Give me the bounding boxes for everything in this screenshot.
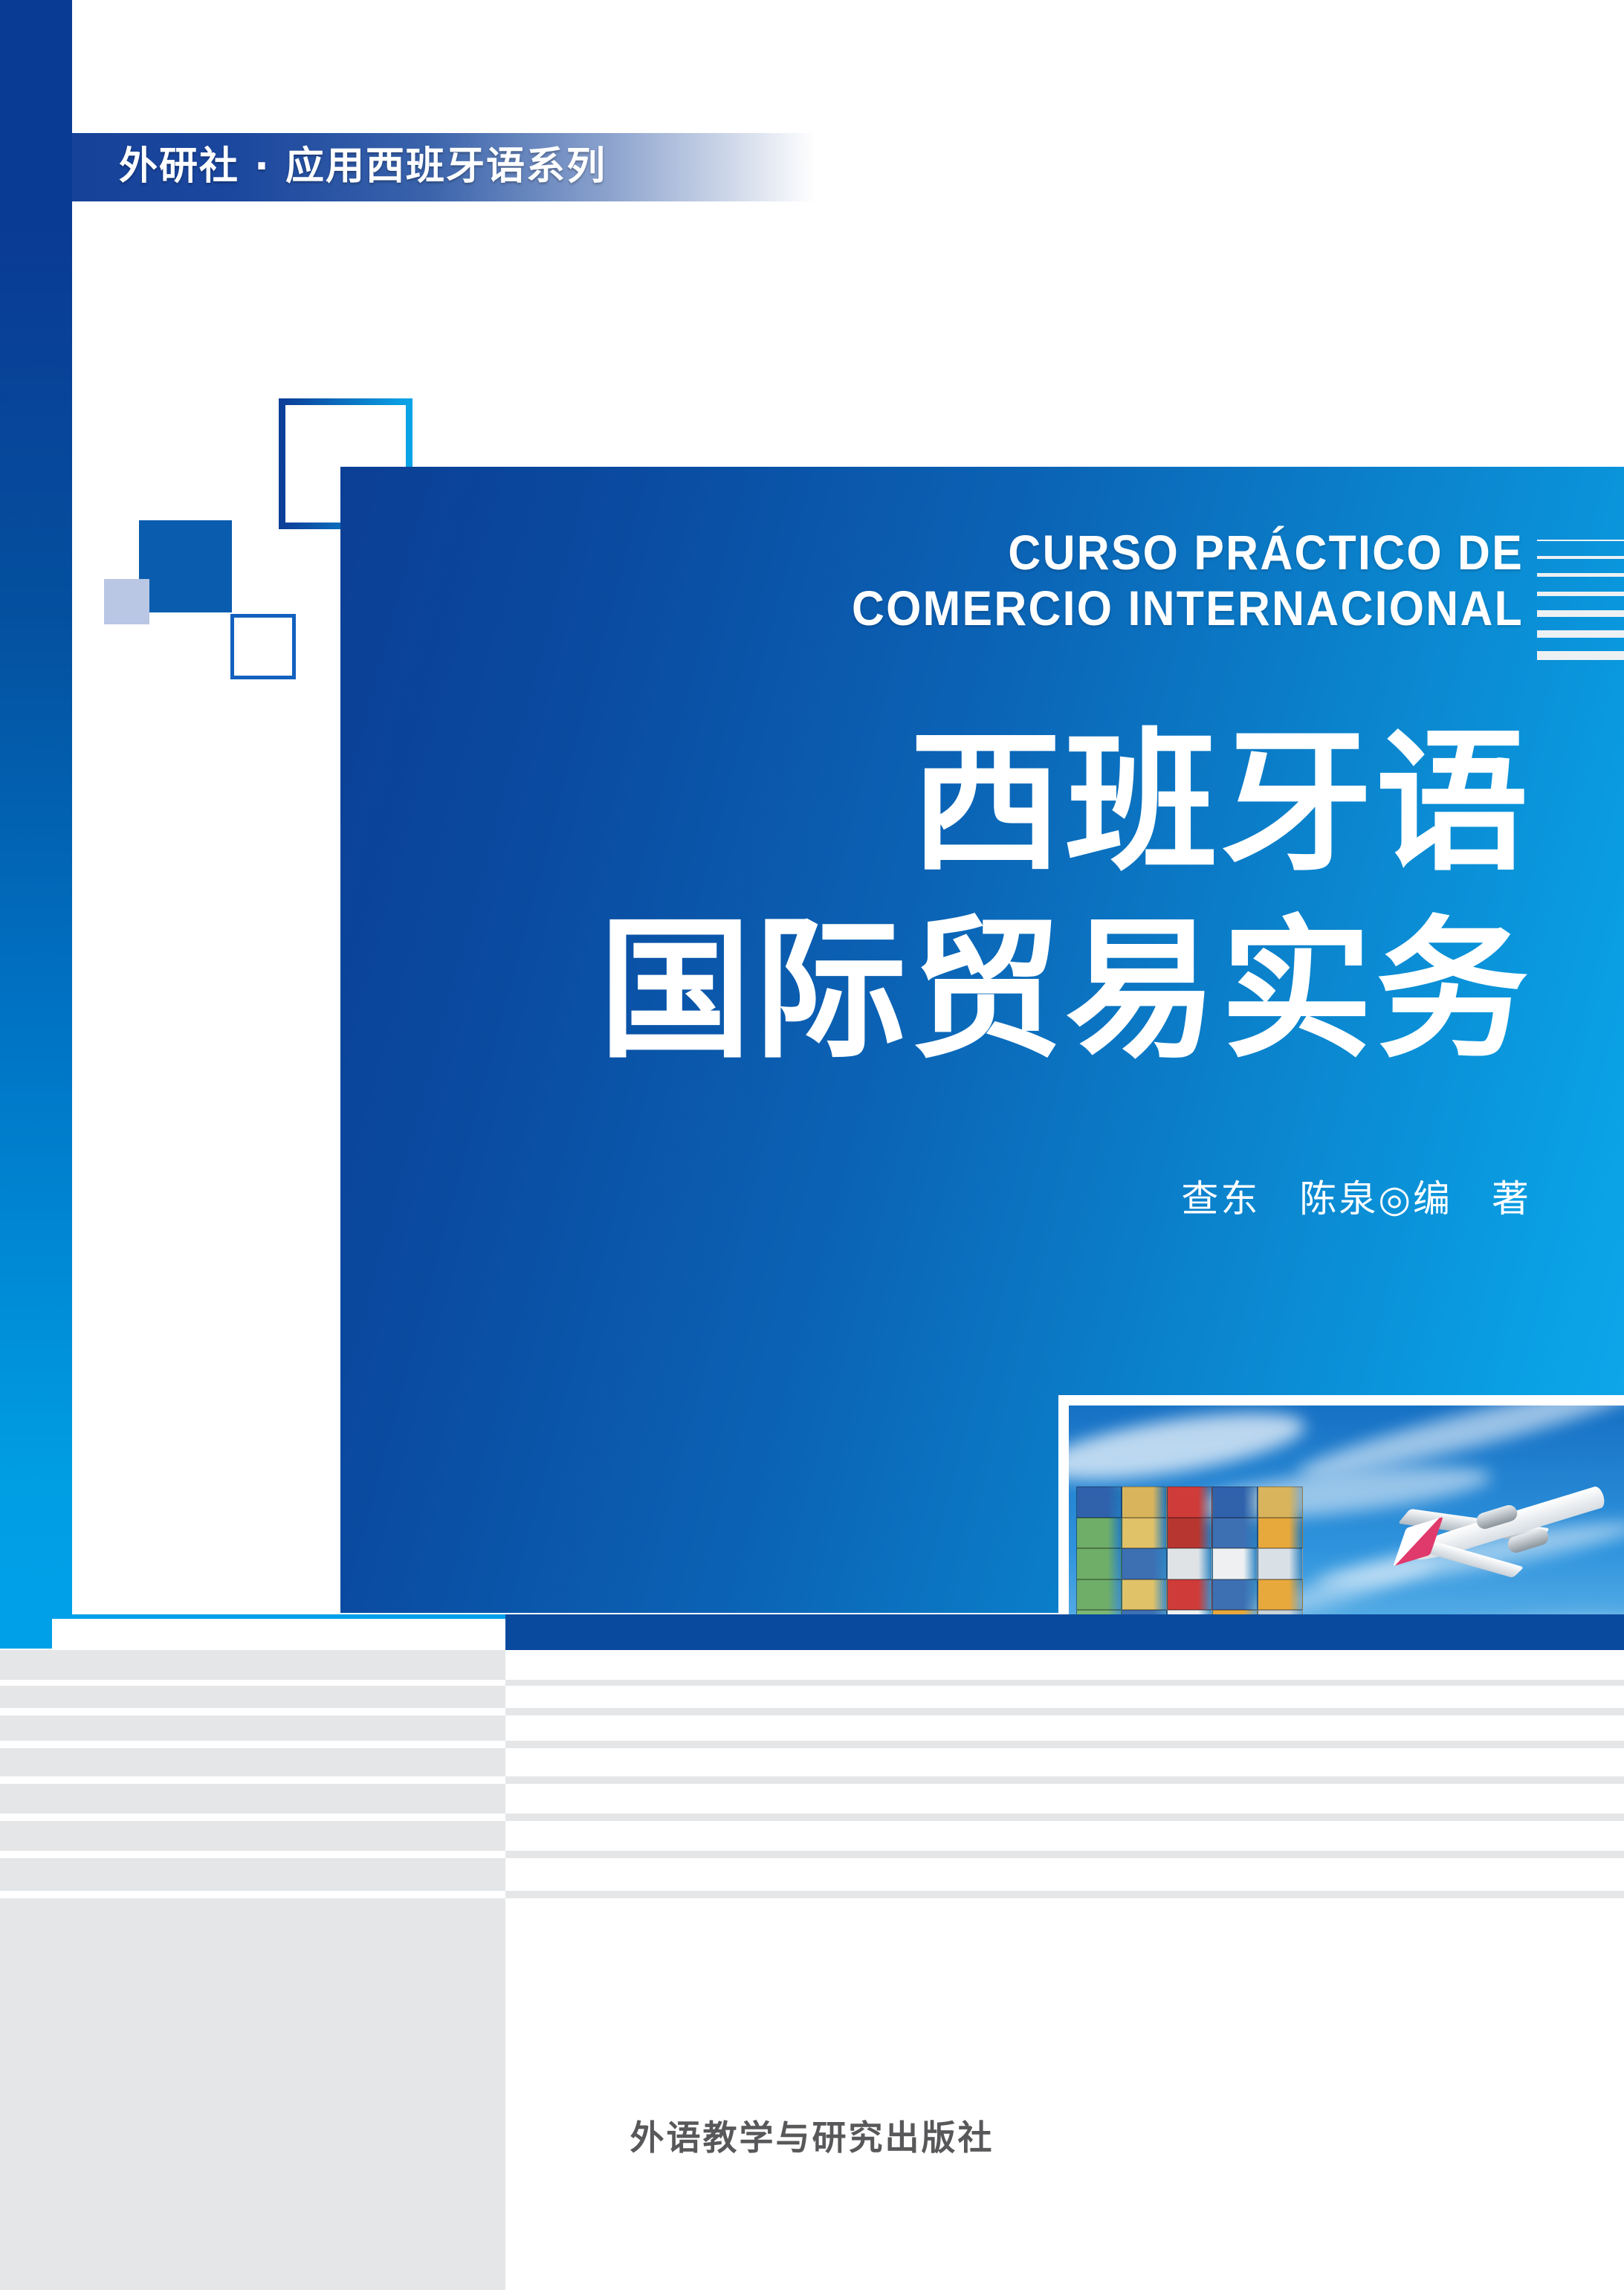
stripe-band	[0, 1619, 1624, 1650]
publisher-name: 外语教学与研究出版社	[0, 2111, 1624, 2160]
edge-line	[1537, 573, 1624, 577]
stripe-right	[505, 1708, 1624, 1715]
stripe-left	[0, 1784, 505, 1814]
stripe-right	[505, 1650, 1624, 1669]
stripe-band	[0, 1715, 1624, 1741]
shipping-container	[1076, 1579, 1122, 1611]
stripe-right	[505, 1821, 1624, 1851]
stripe-right	[505, 1784, 1624, 1814]
shipping-container	[1212, 1548, 1258, 1579]
stripe-left	[0, 1619, 505, 1650]
stripe-left	[0, 1891, 505, 1898]
stripe-band	[0, 1741, 1624, 1748]
bottom-stripe-zone	[0, 1614, 1624, 2290]
stripe-band	[0, 1898, 1624, 2290]
edge-lines-decor	[1537, 540, 1624, 659]
stripe-band	[0, 1669, 1624, 1680]
edge-line	[1537, 540, 1624, 541]
shipping-container	[1167, 1487, 1212, 1518]
stripe-band	[0, 1858, 1624, 1891]
chinese-title-line2: 国际贸易实务	[372, 897, 1531, 1084]
stripe-left	[0, 1858, 505, 1891]
spanish-title-line1: CURSO PRÁCTICO DE	[416, 525, 1524, 580]
stripe-left	[0, 1741, 505, 1748]
chinese-title: 西班牙语 国际贸易实务	[372, 710, 1531, 1084]
stripe-right	[505, 1814, 1624, 1821]
stripe-right	[505, 1669, 1624, 1680]
stripe-left	[0, 1715, 505, 1741]
shipping-container	[1212, 1579, 1258, 1611]
stripe-band	[0, 1650, 1624, 1669]
stripe-left	[0, 1821, 505, 1851]
stripe-left	[0, 1669, 505, 1680]
stripe-left	[0, 1898, 505, 2290]
shipping-container	[1212, 1518, 1258, 1549]
shipping-container	[1258, 1548, 1303, 1579]
stripe-right	[505, 1741, 1624, 1748]
stripe-right	[505, 1715, 1624, 1741]
shipping-container	[1122, 1548, 1167, 1579]
container-row	[1076, 1548, 1303, 1579]
stripe-left	[0, 1680, 505, 1686]
outline-square-small-icon	[230, 614, 296, 679]
shipping-container	[1122, 1579, 1167, 1611]
shipping-container	[1167, 1548, 1212, 1579]
pale-square-icon	[104, 579, 149, 624]
left-gradient-spine	[0, 0, 72, 1614]
stripe-left	[0, 1650, 505, 1669]
chinese-title-line1: 西班牙语	[372, 710, 1531, 897]
cyan-nub	[0, 1614, 52, 1649]
container-row	[1076, 1579, 1303, 1611]
edge-line	[1537, 556, 1624, 559]
stripe-right	[505, 1891, 1624, 1898]
stripe-right	[505, 1680, 1624, 1686]
shipping-container	[1167, 1518, 1212, 1549]
stripe-left	[0, 1748, 505, 1776]
stripe-band	[0, 1776, 1624, 1784]
stripe-left	[0, 1776, 505, 1784]
container-row	[1076, 1518, 1303, 1549]
spanish-title-line2: COMERCIO INTERNACIONAL	[416, 580, 1524, 636]
stripe-band	[0, 1680, 1624, 1686]
shipping-container	[1122, 1487, 1167, 1518]
shipping-container	[1076, 1548, 1122, 1579]
stripe-left	[0, 1814, 505, 1821]
shipping-container	[1258, 1518, 1303, 1549]
shipping-container	[1212, 1487, 1258, 1518]
stripe-band	[0, 1784, 1624, 1814]
stripe-left	[0, 1708, 505, 1715]
stripe-right	[505, 1898, 1624, 2290]
stripe-right	[505, 1686, 1624, 1708]
shipping-container	[1076, 1518, 1122, 1549]
stripe-right	[505, 1748, 1624, 1776]
series-label: 外研社 · 应用西班牙语系列	[119, 140, 606, 193]
stripe-band	[0, 1748, 1624, 1776]
edge-line	[1537, 592, 1624, 597]
solid-square-mid-icon	[139, 520, 232, 612]
author-line: 查东 陈泉◎编 著	[669, 1169, 1531, 1223]
shipping-container	[1122, 1518, 1167, 1549]
edge-line	[1537, 630, 1624, 638]
stripe-right	[505, 1858, 1624, 1891]
edge-line	[1537, 651, 1624, 660]
shipping-container	[1167, 1579, 1212, 1611]
stripe-right	[505, 1851, 1624, 1858]
shipping-container	[1258, 1579, 1303, 1611]
stripe-right	[505, 1776, 1624, 1784]
stripe-right	[505, 1619, 1624, 1650]
stripe-band	[0, 1814, 1624, 1821]
stripe-band	[0, 1708, 1624, 1715]
stripe-band	[0, 1821, 1624, 1851]
airplane-icon	[1388, 1476, 1611, 1588]
spanish-title: CURSO PRÁCTICO DE COMERCIO INTERNACIONAL	[416, 525, 1524, 636]
book-cover: 外研社 · 应用西班牙语系列 CURSO PRÁCTICO DE COMERCI…	[0, 0, 1624, 2290]
stripe-band	[0, 1851, 1624, 1858]
stripe-band	[0, 1891, 1624, 1898]
shipping-container	[1076, 1487, 1122, 1518]
stripe-left	[0, 1686, 505, 1708]
shipping-container	[1258, 1487, 1303, 1518]
container-row	[1076, 1487, 1303, 1518]
stripe-left	[0, 1851, 505, 1858]
edge-line	[1537, 610, 1624, 616]
stripe-band	[0, 1686, 1624, 1708]
